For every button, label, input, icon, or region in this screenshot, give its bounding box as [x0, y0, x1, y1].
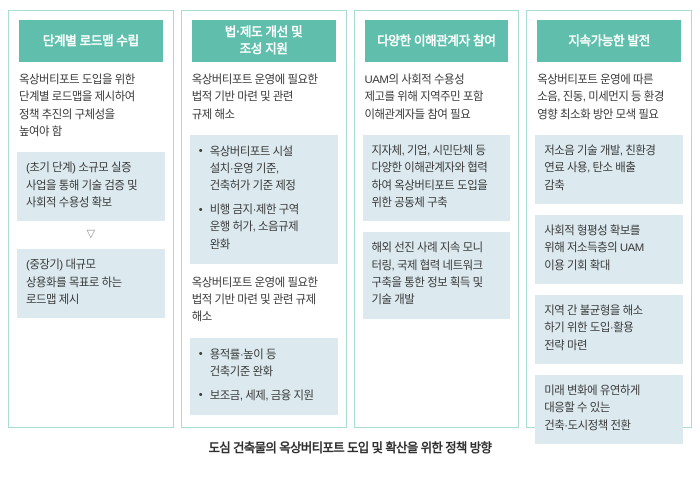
- policy-highlight-box: 저소음 기술 개발, 친환경 연료 사용, 탄소 배출 감축: [535, 135, 683, 204]
- policy-bullet-item: 옥상버티포트 시설 설치·운영 기준, 건축허가 기준 제정: [210, 144, 330, 195]
- policy-subsection-text: 옥상버티포트 운영에 필요한 법적 기반 마련 및 관련 규제 해소: [192, 275, 336, 327]
- policy-card-1: 단계별 로드맵 수립옥상버티포트 도입을 위한 단계별 로드맵을 제시하여 정책…: [8, 10, 174, 428]
- policy-card-header-label: 법·제도 개선 및 조성 지원: [196, 24, 332, 58]
- policy-card-2: 법·제도 개선 및 조성 지원옥상버티포트 운영에 필요한 법적 기반 마련 및…: [181, 10, 347, 428]
- policy-card-header-label: 지속가능한 발전: [541, 33, 677, 50]
- policy-card-header-2: 법·제도 개선 및 조성 지원: [192, 20, 336, 62]
- policy-highlight-box: (초기 단계) 소규모 실증 사업을 통해 기술 검증 및 사회적 수용성 확보: [17, 152, 165, 221]
- policy-card-4: 지속가능한 발전옥상버티포트 운영에 따른 소음, 진동, 미세먼지 등 환경 …: [526, 10, 692, 428]
- policy-highlight-box: 사회적 형평성 확보를 위해 저소득층의 UAM 이용 기회 확대: [535, 215, 683, 284]
- policy-lead-text: UAM의 사회적 수용성 제고를 위해 지역주민 포함 이해관계자들 참여 필요: [365, 72, 509, 124]
- down-triangle-icon: ▽: [17, 229, 165, 240]
- policy-card-body-2: 옥상버티포트 운영에 필요한 법적 기반 마련 및 관련 규제 해소옥상버티포트…: [189, 72, 339, 426]
- policy-card-header-4: 지속가능한 발전: [537, 20, 681, 62]
- policy-columns: 단계별 로드맵 수립옥상버티포트 도입을 위한 단계별 로드맵을 제시하여 정책…: [8, 10, 692, 428]
- policy-bullet-item: 비행 금지·제한 구역 운행 허가, 소음규제 완화: [210, 202, 330, 253]
- policy-bullet-item: 보조금, 세제, 금융 지원: [210, 388, 330, 405]
- policy-lead-text: 옥상버티포트 운영에 필요한 법적 기반 마련 및 관련 규제 해소: [192, 72, 336, 124]
- policy-lead-text: 옥상버티포트 운영에 따른 소음, 진동, 미세먼지 등 환경 영향 최소화 방…: [537, 72, 681, 124]
- policy-highlight-box: (중장기) 대규모 상용화를 목표로 하는 로드맵 제시: [17, 249, 165, 318]
- policy-card-body-3: UAM의 사회적 수용성 제고를 위해 지역주민 포함 이해관계자들 참여 필요…: [362, 72, 512, 419]
- figure-caption: 도심 건축물의 옥상버티포트 도입 및 확산을 위한 정책 방향: [0, 438, 700, 456]
- policy-direction-figure: 단계별 로드맵 수립옥상버티포트 도입을 위한 단계별 로드맵을 제시하여 정책…: [0, 0, 700, 481]
- policy-card-header-3: 다양한 이해관계자 참여: [365, 20, 509, 62]
- policy-highlight-box: 옥상버티포트 시설 설치·운영 기준, 건축허가 기준 제정비행 금지·제한 구…: [190, 135, 338, 264]
- policy-card-header-1: 단계별 로드맵 수립: [19, 20, 163, 62]
- policy-bullet-list: 옥상버티포트 시설 설치·운영 기준, 건축허가 기준 제정비행 금지·제한 구…: [196, 144, 330, 254]
- policy-lead-text: 옥상버티포트 도입을 위한 단계별 로드맵을 제시하여 정책 추진의 구체성을 …: [19, 72, 163, 141]
- policy-card-header-label: 단계별 로드맵 수립: [23, 33, 159, 50]
- policy-card-header-label: 다양한 이해관계자 참여: [369, 33, 505, 50]
- policy-card-body-4: 옥상버티포트 운영에 따른 소음, 진동, 미세먼지 등 환경 영향 최소화 방…: [534, 72, 684, 455]
- policy-card-3: 다양한 이해관계자 참여UAM의 사회적 수용성 제고를 위해 지역주민 포함 …: [354, 10, 520, 428]
- policy-highlight-box: 지자체, 기업, 시민단체 등 다양한 이해관계자와 협력 하여 옥상버티포트 …: [363, 135, 511, 221]
- policy-bullet-list: 용적률·높이 등 건축기준 완화보조금, 세제, 금융 지원: [196, 347, 330, 405]
- policy-highlight-box: 미래 변화에 유연하게 대응할 수 있는 건축·도시정책 전환: [535, 375, 683, 444]
- policy-highlight-box: 해외 선진 사례 지속 모니 터링, 국제 협력 네트워크 구축을 통한 정보 …: [363, 232, 511, 318]
- policy-highlight-box: 용적률·높이 등 건축기준 완화보조금, 세제, 금융 지원: [190, 338, 338, 415]
- policy-card-body-1: 옥상버티포트 도입을 위한 단계별 로드맵을 제시하여 정책 추진의 구체성을 …: [16, 72, 166, 419]
- policy-highlight-box: 지역 간 불균형을 해소 하기 위한 도입·활용 전략 마련: [535, 295, 683, 364]
- policy-bullet-item: 용적률·높이 등 건축기준 완화: [210, 347, 330, 381]
